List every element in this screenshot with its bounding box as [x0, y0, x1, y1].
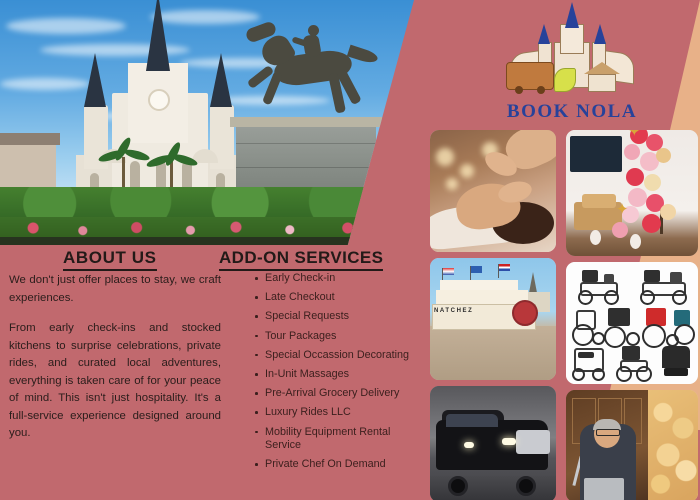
- luxury-suv-photo: [430, 386, 556, 500]
- service-item: Early Check-in: [254, 272, 424, 285]
- logo-gazebo-icon: [584, 62, 620, 92]
- about-paragraph-2: From early check-ins and stocked kitchen…: [9, 320, 221, 443]
- mobility-equipment-photo: [566, 262, 698, 384]
- service-item: Luxury Rides LLC: [254, 406, 424, 419]
- service-item: Special Occassion Decorating: [254, 349, 424, 362]
- logo-illustration: [492, 4, 652, 102]
- st-louis-cathedral-icon: [70, 23, 250, 203]
- logo-leaf-icon: [554, 68, 576, 92]
- service-item: In-Unit Massages: [254, 368, 424, 381]
- boat-name-label: NATCHEZ: [434, 308, 473, 314]
- add-on-services-list: Early Check-in Late Checkout Special Req…: [254, 272, 424, 477]
- flyer-page: BOOK NOLA ABOUT US We don't just offer p…: [0, 0, 700, 500]
- photo-gallery: ✦ ✦ NATCHEZ: [430, 130, 698, 500]
- service-item: Tour Packages: [254, 330, 424, 343]
- flower-bed: [0, 217, 414, 239]
- andrew-jackson-statue-icon: [244, 23, 380, 119]
- logo-wordmark: BOOK NOLA: [492, 102, 652, 121]
- hero-jackson-square-photo: [0, 0, 414, 245]
- service-item: Mobility Equipment Rental Service: [254, 426, 424, 452]
- private-chef-photo: [566, 390, 698, 500]
- about-paragraph-1: We don't just offer places to stay, we c…: [9, 272, 221, 307]
- service-item: Pre-Arrival Grocery Delivery: [254, 387, 424, 400]
- steamboat-natchez-photo: NATCHEZ: [430, 258, 556, 380]
- add-on-services-heading: ADD-ON SERVICES: [219, 248, 383, 271]
- about-us-text: We don't just offer places to stay, we c…: [9, 272, 221, 443]
- logo-streetcar-icon: [506, 62, 554, 90]
- balloon-decoration-photo: ✦ ✦: [566, 130, 698, 256]
- book-nola-logo[interactable]: BOOK NOLA: [492, 4, 652, 126]
- about-us-heading: ABOUT US: [63, 248, 157, 271]
- service-item: Special Requests: [254, 310, 424, 323]
- service-item: Late Checkout: [254, 291, 424, 304]
- service-item: Private Chef On Demand: [254, 458, 424, 471]
- spa-massage-photo: [430, 130, 556, 252]
- iron-fence: [0, 237, 414, 245]
